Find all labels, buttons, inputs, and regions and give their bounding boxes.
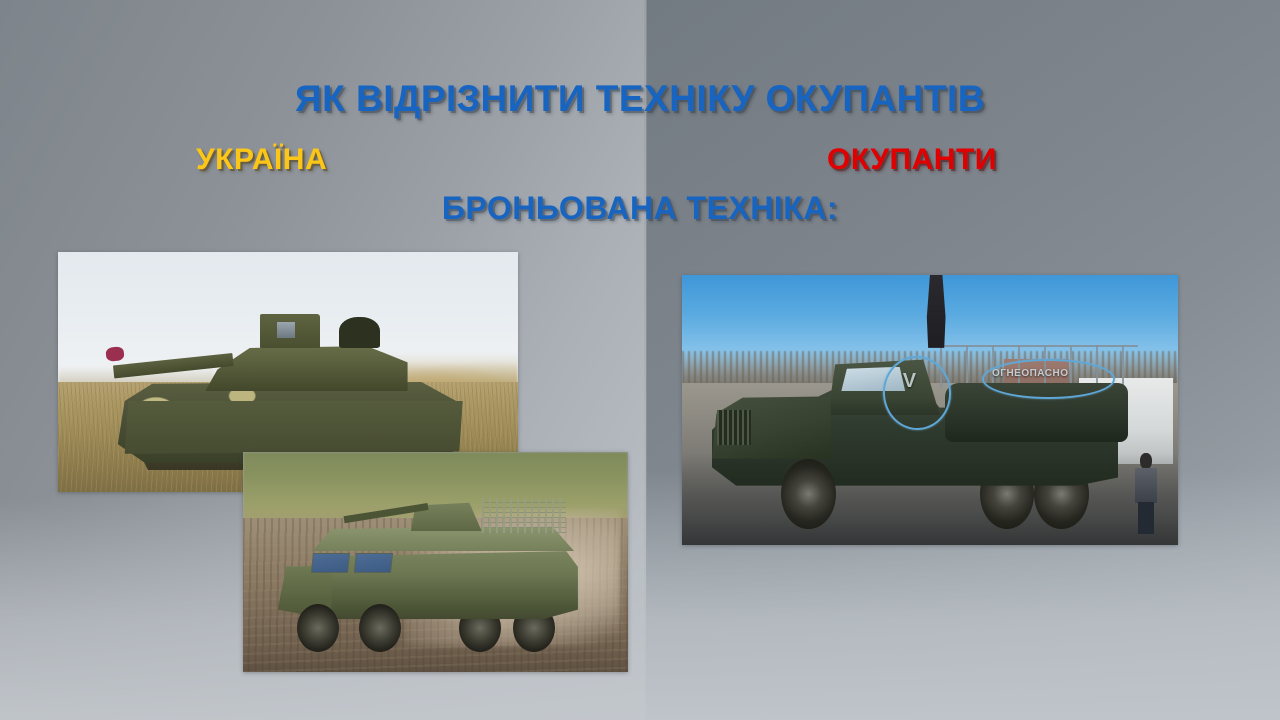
btr-scene <box>243 452 628 672</box>
photo-ukrainian-apc <box>243 452 628 672</box>
column-heading-occupants: ОКУПАНТИ <box>827 143 997 177</box>
btr-wheel <box>359 604 401 652</box>
btr-wheel <box>297 604 339 652</box>
section-heading-armored-vehicles: БРОНЬОВАНА ТЕХНІКА: <box>0 190 1280 227</box>
bystander-torso <box>1135 468 1157 504</box>
bystander-legs <box>1138 502 1154 534</box>
btr-windshield-left <box>311 553 350 573</box>
ural-scene: V ОГНЕОПАСНО <box>682 275 1178 545</box>
ural-wheel <box>781 459 836 529</box>
slide-root: ЯК ВІДРІЗНИТИ ТЕХНІКУ ОКУПАНТІВ УКРАЇНА … <box>0 0 1280 720</box>
civilian-bystander <box>1133 453 1158 534</box>
btr-windshield-right <box>354 553 393 573</box>
page-title: ЯК ВІДРІЗНИТИ ТЕХНІКУ ОКУПАНТІВ <box>0 78 1280 120</box>
tank-commander-cupola <box>339 317 380 348</box>
column-heading-ukraine: УКРАЇНА <box>196 143 327 177</box>
tank-sight-lens <box>277 322 295 339</box>
ural-radiator-grille <box>717 410 752 445</box>
btr-slat-armor-cage <box>482 498 567 533</box>
photo-occupant-fuel-truck: V ОГНЕОПАСНО <box>682 275 1178 545</box>
annotation-circle-flammable-marking <box>982 359 1115 399</box>
tank-side-skirt <box>118 401 463 459</box>
